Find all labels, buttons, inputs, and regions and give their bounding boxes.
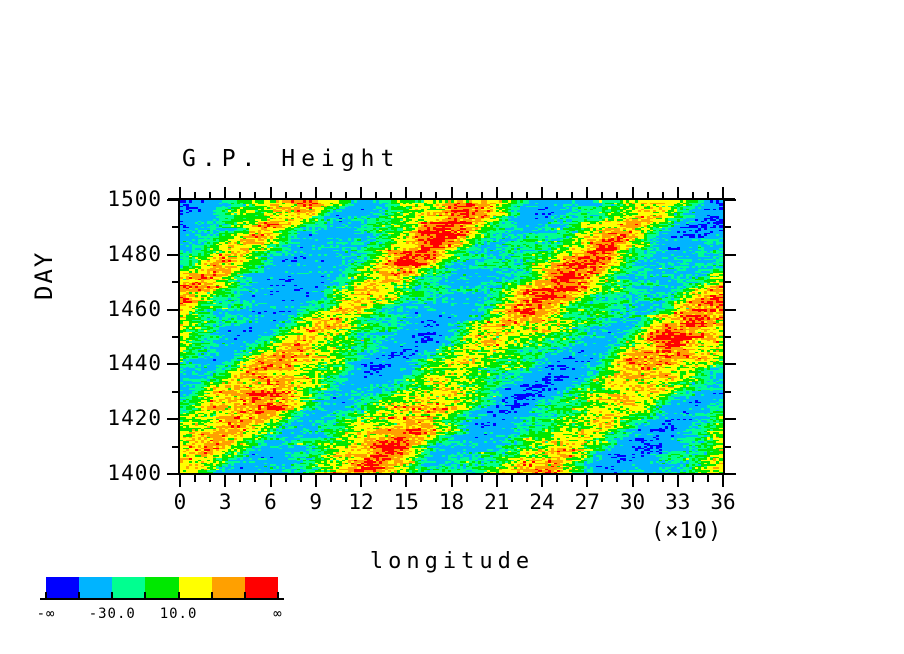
x-axis-major-tick <box>496 475 498 487</box>
x-axis-minor-tick <box>601 192 603 199</box>
x-axis-minor-tick <box>571 192 573 199</box>
y-axis-title: DAY <box>30 251 58 300</box>
colorbar-label: ∞ <box>243 606 313 622</box>
y-axis-minor-tick <box>172 281 179 283</box>
x-axis-minor-tick <box>707 192 709 199</box>
colorbar-segment-blue <box>46 577 79 598</box>
x-axis-minor-tick <box>375 475 377 482</box>
y-axis-minor-tick <box>724 226 731 228</box>
colorbar-axis-line <box>40 598 284 600</box>
y-axis-major-tick <box>724 199 736 201</box>
colorbar-segment-deep-sky <box>79 577 112 598</box>
y-axis-tick-label: 1500 <box>52 189 162 210</box>
hovmoller-heatmap-canvas <box>180 200 723 474</box>
x-axis-minor-tick <box>616 192 618 199</box>
x-axis-minor-tick <box>345 192 347 199</box>
y-axis-major-tick <box>167 418 179 420</box>
x-axis-minor-tick <box>435 475 437 482</box>
x-axis-major-tick <box>451 475 453 487</box>
x-axis-major-tick <box>586 187 588 199</box>
y-axis-tick-label: 1420 <box>52 408 162 429</box>
x-axis-minor-tick <box>556 192 558 199</box>
x-axis-minor-tick <box>345 475 347 482</box>
y-axis-major-tick <box>167 309 179 311</box>
x-axis-minor-tick <box>481 192 483 199</box>
y-axis-major-tick <box>167 199 179 201</box>
y-axis-minor-tick <box>724 446 731 448</box>
x-axis-minor-tick <box>435 192 437 199</box>
y-axis-minor-tick <box>172 226 179 228</box>
x-axis-minor-tick <box>285 475 287 482</box>
y-axis-major-tick <box>167 363 179 365</box>
y-axis-tick-label: 1460 <box>52 299 162 320</box>
x-axis-minor-tick <box>375 192 377 199</box>
colorbar-tick <box>277 592 279 599</box>
y-axis-minor-tick <box>724 391 731 393</box>
x-axis-major-tick <box>677 475 679 487</box>
colorbar-label: 10.0 <box>144 606 214 622</box>
x-axis-minor-tick <box>254 192 256 199</box>
x-axis-minor-tick <box>254 475 256 482</box>
y-axis-major-tick <box>724 254 736 256</box>
y-axis-minor-tick <box>724 281 731 283</box>
y-axis-minor-tick <box>724 336 731 338</box>
x-axis-minor-tick <box>330 475 332 482</box>
x-axis-major-tick <box>315 475 317 487</box>
x-axis-major-tick <box>722 475 724 487</box>
colorbar-tick <box>78 592 80 599</box>
x-axis-major-tick <box>270 187 272 199</box>
colorbar-label: -30.0 <box>77 606 147 622</box>
x-axis-major-tick <box>632 187 634 199</box>
y-axis-major-tick <box>724 363 736 365</box>
x-axis-minor-tick <box>481 475 483 482</box>
colorbar-tick <box>211 592 213 599</box>
colorbar-segment-orange <box>212 577 245 598</box>
y-axis-minor-tick <box>172 391 179 393</box>
x-axis-major-tick <box>224 475 226 487</box>
x-axis-minor-tick <box>209 192 211 199</box>
x-axis-minor-tick <box>420 192 422 199</box>
x-axis-major-tick <box>224 187 226 199</box>
x-axis-minor-tick <box>511 192 513 199</box>
x-axis-minor-tick <box>194 192 196 199</box>
colorbar-segment-spring-green <box>112 577 145 598</box>
page-title: G.P. Height <box>182 148 400 171</box>
x-axis-minor-tick <box>526 475 528 482</box>
x-axis-minor-tick <box>662 475 664 482</box>
x-axis-minor-tick <box>330 192 332 199</box>
x-axis-minor-tick <box>285 192 287 199</box>
x-axis-minor-tick <box>511 475 513 482</box>
y-axis-major-tick <box>724 473 736 475</box>
x-axis-minor-tick <box>300 192 302 199</box>
x-axis-minor-tick <box>616 475 618 482</box>
x-axis-minor-tick <box>194 475 196 482</box>
y-axis-tick-label: 1440 <box>52 353 162 374</box>
x-axis-minor-tick <box>571 475 573 482</box>
colorbar-tick <box>111 592 113 599</box>
x-axis-minor-tick <box>647 475 649 482</box>
colorbar-tick <box>244 592 246 599</box>
x-axis-major-tick <box>586 475 588 487</box>
x-axis-minor-tick <box>209 475 211 482</box>
x-axis-tick-label: 36 <box>693 492 753 513</box>
x-axis-major-tick <box>451 187 453 199</box>
x-axis-minor-tick <box>526 192 528 199</box>
y-axis-major-tick <box>167 473 179 475</box>
x-axis-major-tick <box>496 187 498 199</box>
y-axis-minor-tick <box>172 446 179 448</box>
x-axis-minor-tick <box>300 475 302 482</box>
x-axis-minor-tick <box>556 475 558 482</box>
x-axis-minor-tick <box>466 475 468 482</box>
x-axis-major-tick <box>179 475 181 487</box>
x-axis-minor-tick <box>239 475 241 482</box>
x-axis-minor-tick <box>707 475 709 482</box>
x-axis-minor-tick <box>692 475 694 482</box>
x-axis-minor-tick <box>601 475 603 482</box>
x-axis-major-tick <box>360 187 362 199</box>
x-axis-major-tick <box>541 187 543 199</box>
x-axis-minor-tick <box>647 192 649 199</box>
x-axis-minor-tick <box>466 192 468 199</box>
x-axis-minor-tick <box>662 192 664 199</box>
x-axis-multiplier-note: (×10) <box>651 519 722 544</box>
colorbar-tick <box>178 592 180 599</box>
x-axis-minor-tick <box>390 192 392 199</box>
x-axis-title: longitude <box>0 549 904 574</box>
x-axis-major-tick <box>405 475 407 487</box>
colorbar-tick <box>45 592 47 599</box>
x-axis-minor-tick <box>390 475 392 482</box>
x-axis-major-tick <box>541 475 543 487</box>
x-axis-minor-tick <box>692 192 694 199</box>
y-axis-minor-tick <box>172 336 179 338</box>
x-axis-minor-tick <box>239 192 241 199</box>
y-axis-major-tick <box>724 418 736 420</box>
colorbar-segment-red <box>245 577 278 598</box>
colorbar-segment-yellow <box>179 577 212 598</box>
x-axis-minor-tick <box>420 475 422 482</box>
figure-root: G.P. Height 0369121518212427303336140014… <box>0 0 904 654</box>
y-axis-tick-label: 1400 <box>52 463 162 484</box>
x-axis-major-tick <box>405 187 407 199</box>
heatmap-plot-area <box>180 200 723 474</box>
colorbar-tick <box>144 592 146 599</box>
y-axis-major-tick <box>724 309 736 311</box>
x-axis-major-tick <box>179 187 181 199</box>
y-axis-tick-label: 1480 <box>52 244 162 265</box>
x-axis-major-tick <box>270 475 272 487</box>
x-axis-major-tick <box>632 475 634 487</box>
x-axis-major-tick <box>677 187 679 199</box>
x-axis-major-tick <box>360 475 362 487</box>
y-axis-major-tick <box>167 254 179 256</box>
x-axis-major-tick <box>315 187 317 199</box>
colorbar-label: -∞ <box>11 606 81 622</box>
colorbar-segment-green <box>145 577 178 598</box>
x-axis-major-tick <box>722 187 724 199</box>
